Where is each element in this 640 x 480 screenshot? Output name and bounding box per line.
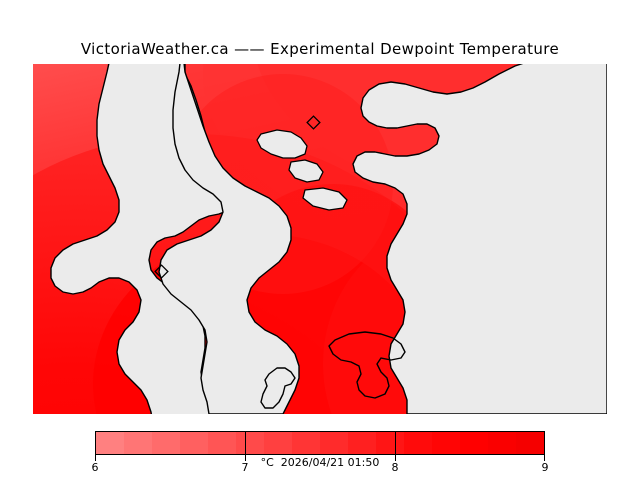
colorbar-segment-8: [320, 432, 348, 454]
weather-map-page: VictoriaWeather.ca —— Experimental Dewpo…: [0, 0, 640, 480]
colorbar-segment-11: [404, 432, 432, 454]
colorbar-segment-14: [488, 432, 516, 454]
colorbar-segment-3: [180, 432, 208, 454]
colorbar-tickmark-8: [395, 431, 396, 455]
colorbar-segment-2: [152, 432, 180, 454]
colorbar-segment-10: [376, 432, 404, 454]
colorbar-segment-4: [208, 432, 236, 454]
map-canvas[interactable]: [33, 64, 607, 414]
colorbar-caption: °C 2026/04/21 01:50: [0, 456, 640, 469]
dewpoint-contour-map: [33, 64, 607, 414]
colorbar-segment-0: [96, 432, 124, 454]
page-title: VictoriaWeather.ca —— Experimental Dewpo…: [0, 40, 640, 58]
colorbar-segment-12: [432, 432, 460, 454]
colorbar-gradient[interactable]: [95, 431, 545, 455]
colorbar-segment-1: [124, 432, 152, 454]
colorbar-segment-9: [348, 432, 376, 454]
colorbar-tickmark-7: [245, 431, 246, 455]
colorbar-segment-7: [292, 432, 320, 454]
colorbar-segment-5: [236, 432, 264, 454]
colorbar-segment-15: [516, 432, 544, 454]
colorbar-block: 6789: [95, 431, 545, 455]
colorbar-segment-13: [460, 432, 488, 454]
colorbar-segment-6: [264, 432, 292, 454]
